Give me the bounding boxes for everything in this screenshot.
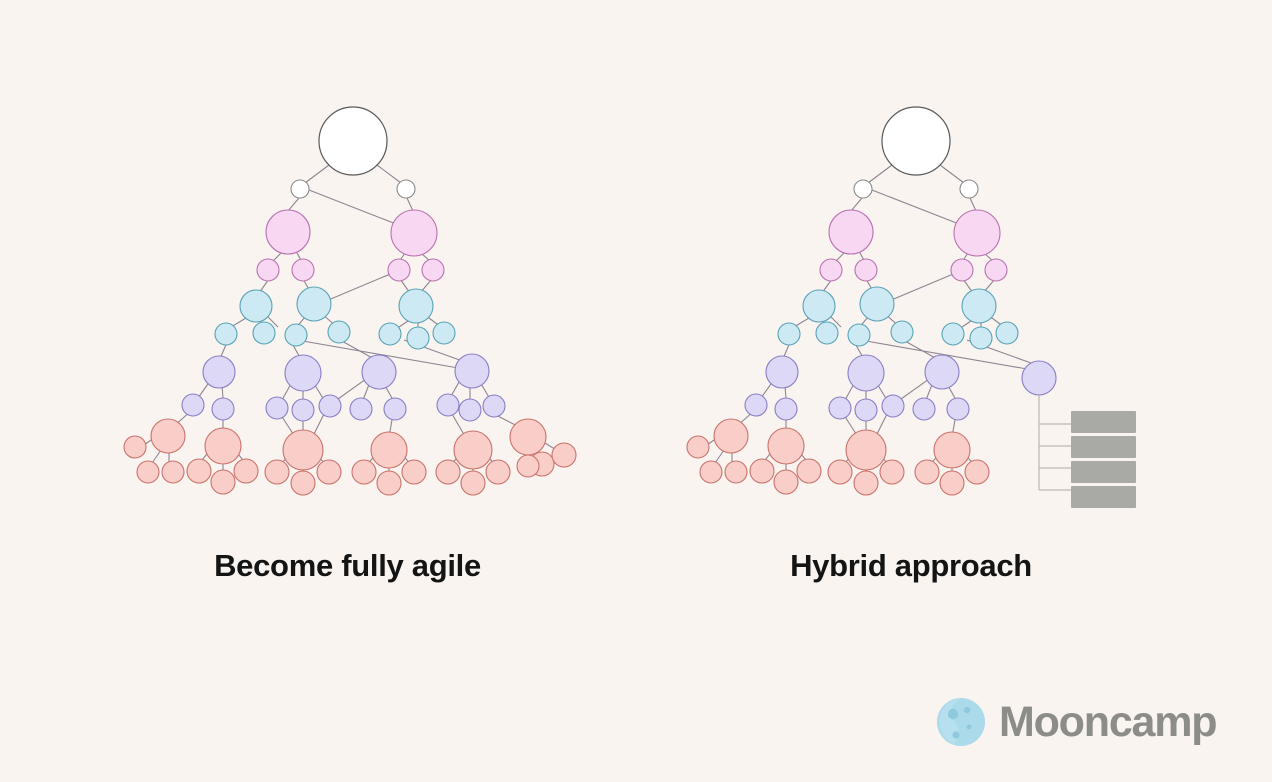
tree-become-fully-agile (124, 107, 576, 495)
tree-nodes-magenta-hubs (829, 210, 1000, 256)
tree-root-node (882, 107, 950, 175)
tree-nodes-white (854, 180, 978, 198)
tree-edges (141, 165, 558, 472)
tree-nodes-lavender-hubs (766, 355, 1056, 395)
mooncamp-logo: Mooncamp (936, 694, 1216, 750)
panel-caption-hybrid-approach: Hybrid approach (578, 548, 1244, 584)
mooncamp-moon-icon (936, 697, 986, 747)
traditional-unit-bar (1071, 486, 1136, 508)
tree-hybrid-approach (687, 107, 1136, 508)
hierarchy-bracket (1039, 395, 1071, 490)
tree-nodes-lavender-small (745, 394, 969, 421)
tree-nodes-white (291, 180, 415, 198)
tree-nodes-cyan-small (778, 321, 1018, 349)
org-structure-diagram (0, 0, 1272, 782)
traditional-unit-bar (1071, 461, 1136, 483)
tree-nodes-magenta-hubs (266, 210, 437, 256)
traditional-unit-bars (1071, 411, 1136, 508)
tree-nodes-lavender-hubs (203, 354, 489, 391)
tree-nodes-cyan-small (215, 321, 455, 349)
traditional-unit-bar (1071, 411, 1136, 433)
tree-nodes-lavender-small (182, 394, 505, 421)
traditional-unit-bar (1071, 436, 1136, 458)
tree-nodes-salmon-leaves (124, 436, 576, 495)
mooncamp-wordmark: Mooncamp (999, 701, 1216, 744)
tree-nodes-salmon-hubs (151, 419, 546, 470)
diagram-stage: Become fully agile Hybrid approach Moonc… (0, 0, 1272, 782)
tree-root-node (319, 107, 387, 175)
tree-nodes-magenta-small (820, 259, 1007, 281)
tree-nodes-magenta-small (257, 259, 444, 281)
